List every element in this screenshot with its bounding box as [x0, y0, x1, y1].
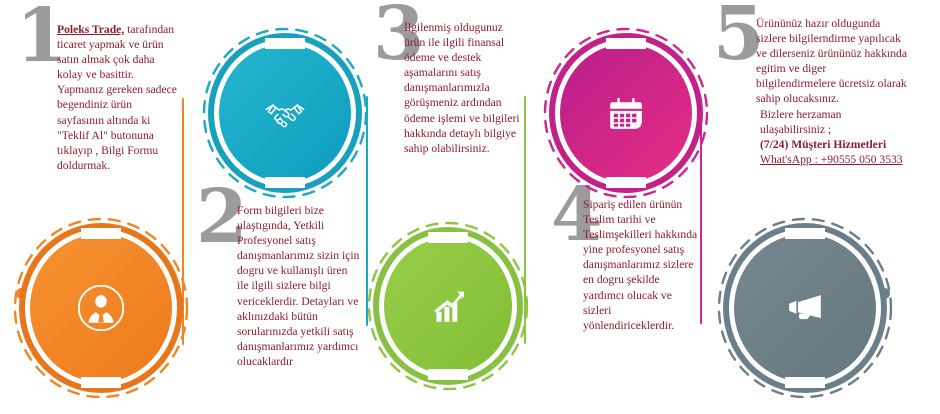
step-4-body: Sipariş edilen ürünün Teslim tarihi ve T…	[583, 198, 697, 332]
step-3-body: İlgilenmiş oldugunuz ürün ile ilgili fin…	[404, 21, 520, 155]
step-5-contact-whatsapp[interactable]: What'sApp : +90555 050 3533	[760, 153, 903, 166]
growth-chart-icon	[425, 283, 471, 329]
step-1-lead: Poleks Trade,	[57, 23, 124, 36]
medallion-bracket-top-2	[265, 38, 305, 49]
step-5-contact-intro: Bizlere herzaman ulaşabilirsiniz ;	[760, 108, 841, 136]
step-text-2: Form bilgileri bize ulaştıgında, Yetkili…	[237, 203, 361, 369]
medallion-disc-5	[734, 234, 876, 382]
medallion-bracket-top-4	[606, 38, 646, 49]
step-5-contact-hours: (7/24) Müşteri Hizmetleri	[760, 138, 886, 151]
step-text-3: İlgilenmiş oldugunuz ürün ile ilgili fin…	[404, 20, 526, 156]
medallion-disc-3	[384, 238, 512, 374]
handshake-icon	[262, 90, 308, 136]
step-2-body: Form bilgileri bize ulaştıgında, Yetkili…	[237, 204, 359, 368]
medallion-bracket-top-3	[428, 232, 468, 243]
medallion-disc-2	[219, 44, 351, 182]
medallion-bracket-top-5	[785, 228, 825, 239]
medallion-bracket-bottom-3	[428, 369, 468, 380]
step-text-4: Sipariş edilen ürünün Teslim tarihi ve T…	[583, 197, 700, 333]
medallion-step-3[interactable]	[362, 216, 534, 396]
step-text-5: Ürününüz hazır oldugunda sizlere bilgile…	[756, 16, 908, 167]
medallion-bracket-bottom-1	[81, 377, 121, 388]
medallion-bracket-bottom-5	[785, 377, 825, 388]
megaphone-icon	[782, 285, 828, 331]
medallion-step-5[interactable]	[712, 212, 898, 404]
businessman-icon	[78, 285, 124, 331]
medallion-disc-1	[30, 234, 172, 382]
step-5-body: Ürününüz hazır oldugunda sizlere bilgile…	[756, 17, 907, 105]
medallion-bracket-bottom-2	[265, 177, 305, 188]
infographic-root: 1 Poleks Trade, tarafından ticaret yapma…	[0, 0, 940, 414]
medallion-disc-4	[560, 44, 692, 182]
medallion-bracket-bottom-4	[606, 177, 646, 188]
step-1-body: tarafından ticaret yapmak ve ürün satın …	[57, 23, 177, 172]
medallion-step-2[interactable]	[197, 22, 373, 204]
medallion-step-1[interactable]	[8, 212, 194, 404]
medallion-step-4[interactable]	[538, 22, 714, 204]
calendar-icon	[603, 90, 649, 136]
medallion-bracket-top-1	[81, 228, 121, 239]
step-text-1: Poleks Trade, tarafından ticaret yapmak …	[57, 22, 180, 173]
